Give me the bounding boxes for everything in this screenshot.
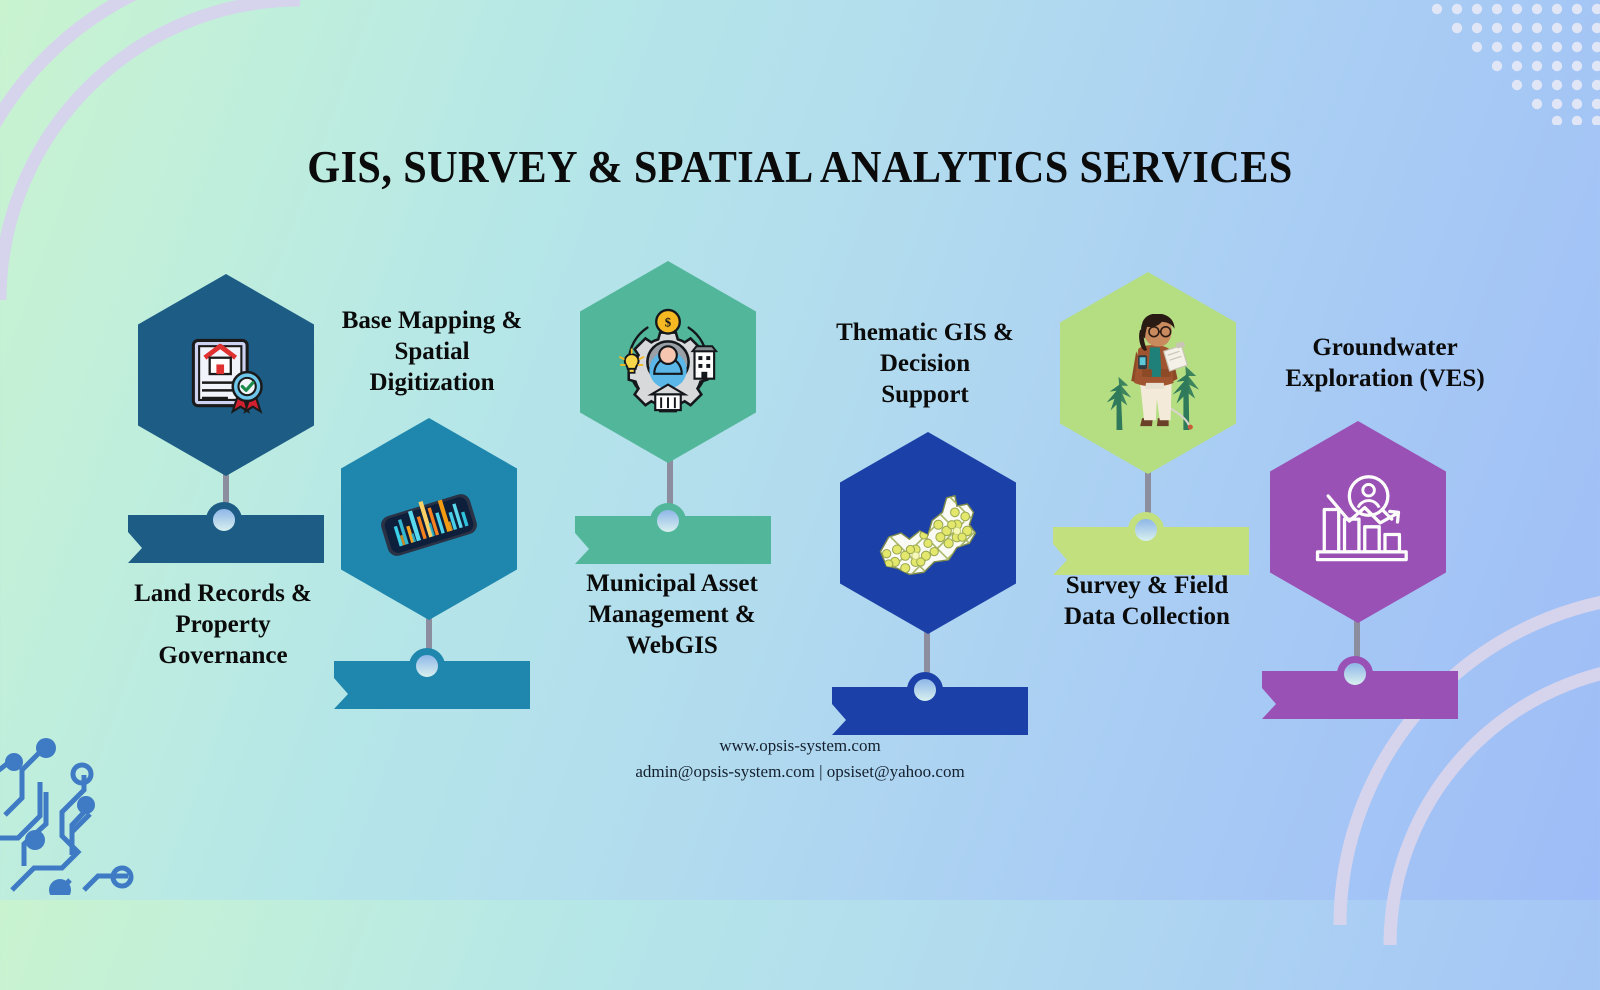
- service-label-base-mapping: Base Mapping & Spatial Digitization: [300, 305, 564, 398]
- service-label-land-records: Land Records & Property Governance: [78, 578, 368, 671]
- service-label-municipal-asset: Municipal Asset Management & WebGIS: [527, 568, 817, 661]
- field-surveyor-icon: [1089, 314, 1207, 432]
- hexagon-base-mapping[interactable]: [341, 418, 517, 620]
- infographic-canvas: GIS, SURVEY & SPATIAL ANALYTICS SERVICES: [0, 0, 1600, 900]
- service-label-thematic-gis: Thematic GIS & Decision Support: [800, 317, 1050, 410]
- service-label-survey-field: Survey & Field Data Collection: [1022, 570, 1272, 632]
- dot-grid-decoration: [1390, 0, 1600, 130]
- page-title: GIS, SURVEY & SPATIAL ANALYTICS SERVICES: [64, 140, 1536, 193]
- property-certificate-icon: [178, 327, 274, 423]
- service-label-groundwater: Groundwater Exploration (VES): [1240, 332, 1530, 394]
- asset-management-gear-icon: $: [614, 308, 722, 416]
- connector-node-survey-field: [1128, 512, 1164, 548]
- footer-contact: www.opsis-system.com admin@opsis-system.…: [0, 733, 1600, 785]
- footer-website[interactable]: www.opsis-system.com: [0, 733, 1600, 759]
- bar-chart-analysis-icon: [1305, 469, 1411, 575]
- connector-node-municipal-asset: [650, 503, 686, 539]
- connector-node-groundwater: [1337, 656, 1373, 692]
- mobile-city-data-icon: [369, 469, 489, 569]
- footer-emails[interactable]: admin@opsis-system.com | opsiset@yahoo.c…: [0, 759, 1600, 785]
- hexagon-land-records[interactable]: [138, 274, 314, 476]
- connector-node-base-mapping: [409, 648, 445, 684]
- hexagon-survey-field[interactable]: [1060, 272, 1236, 474]
- connector-node-land-records: [206, 502, 242, 538]
- hexagon-municipal-asset[interactable]: $: [580, 261, 756, 463]
- svg-text:$: $: [665, 316, 672, 330]
- hexagon-groundwater[interactable]: [1270, 421, 1446, 623]
- hexagon-thematic-gis[interactable]: [840, 432, 1016, 634]
- thematic-map-icon: [866, 471, 990, 595]
- connector-node-thematic-gis: [907, 672, 943, 708]
- corner-arc-decoration-bottom-right: [1250, 585, 1600, 990]
